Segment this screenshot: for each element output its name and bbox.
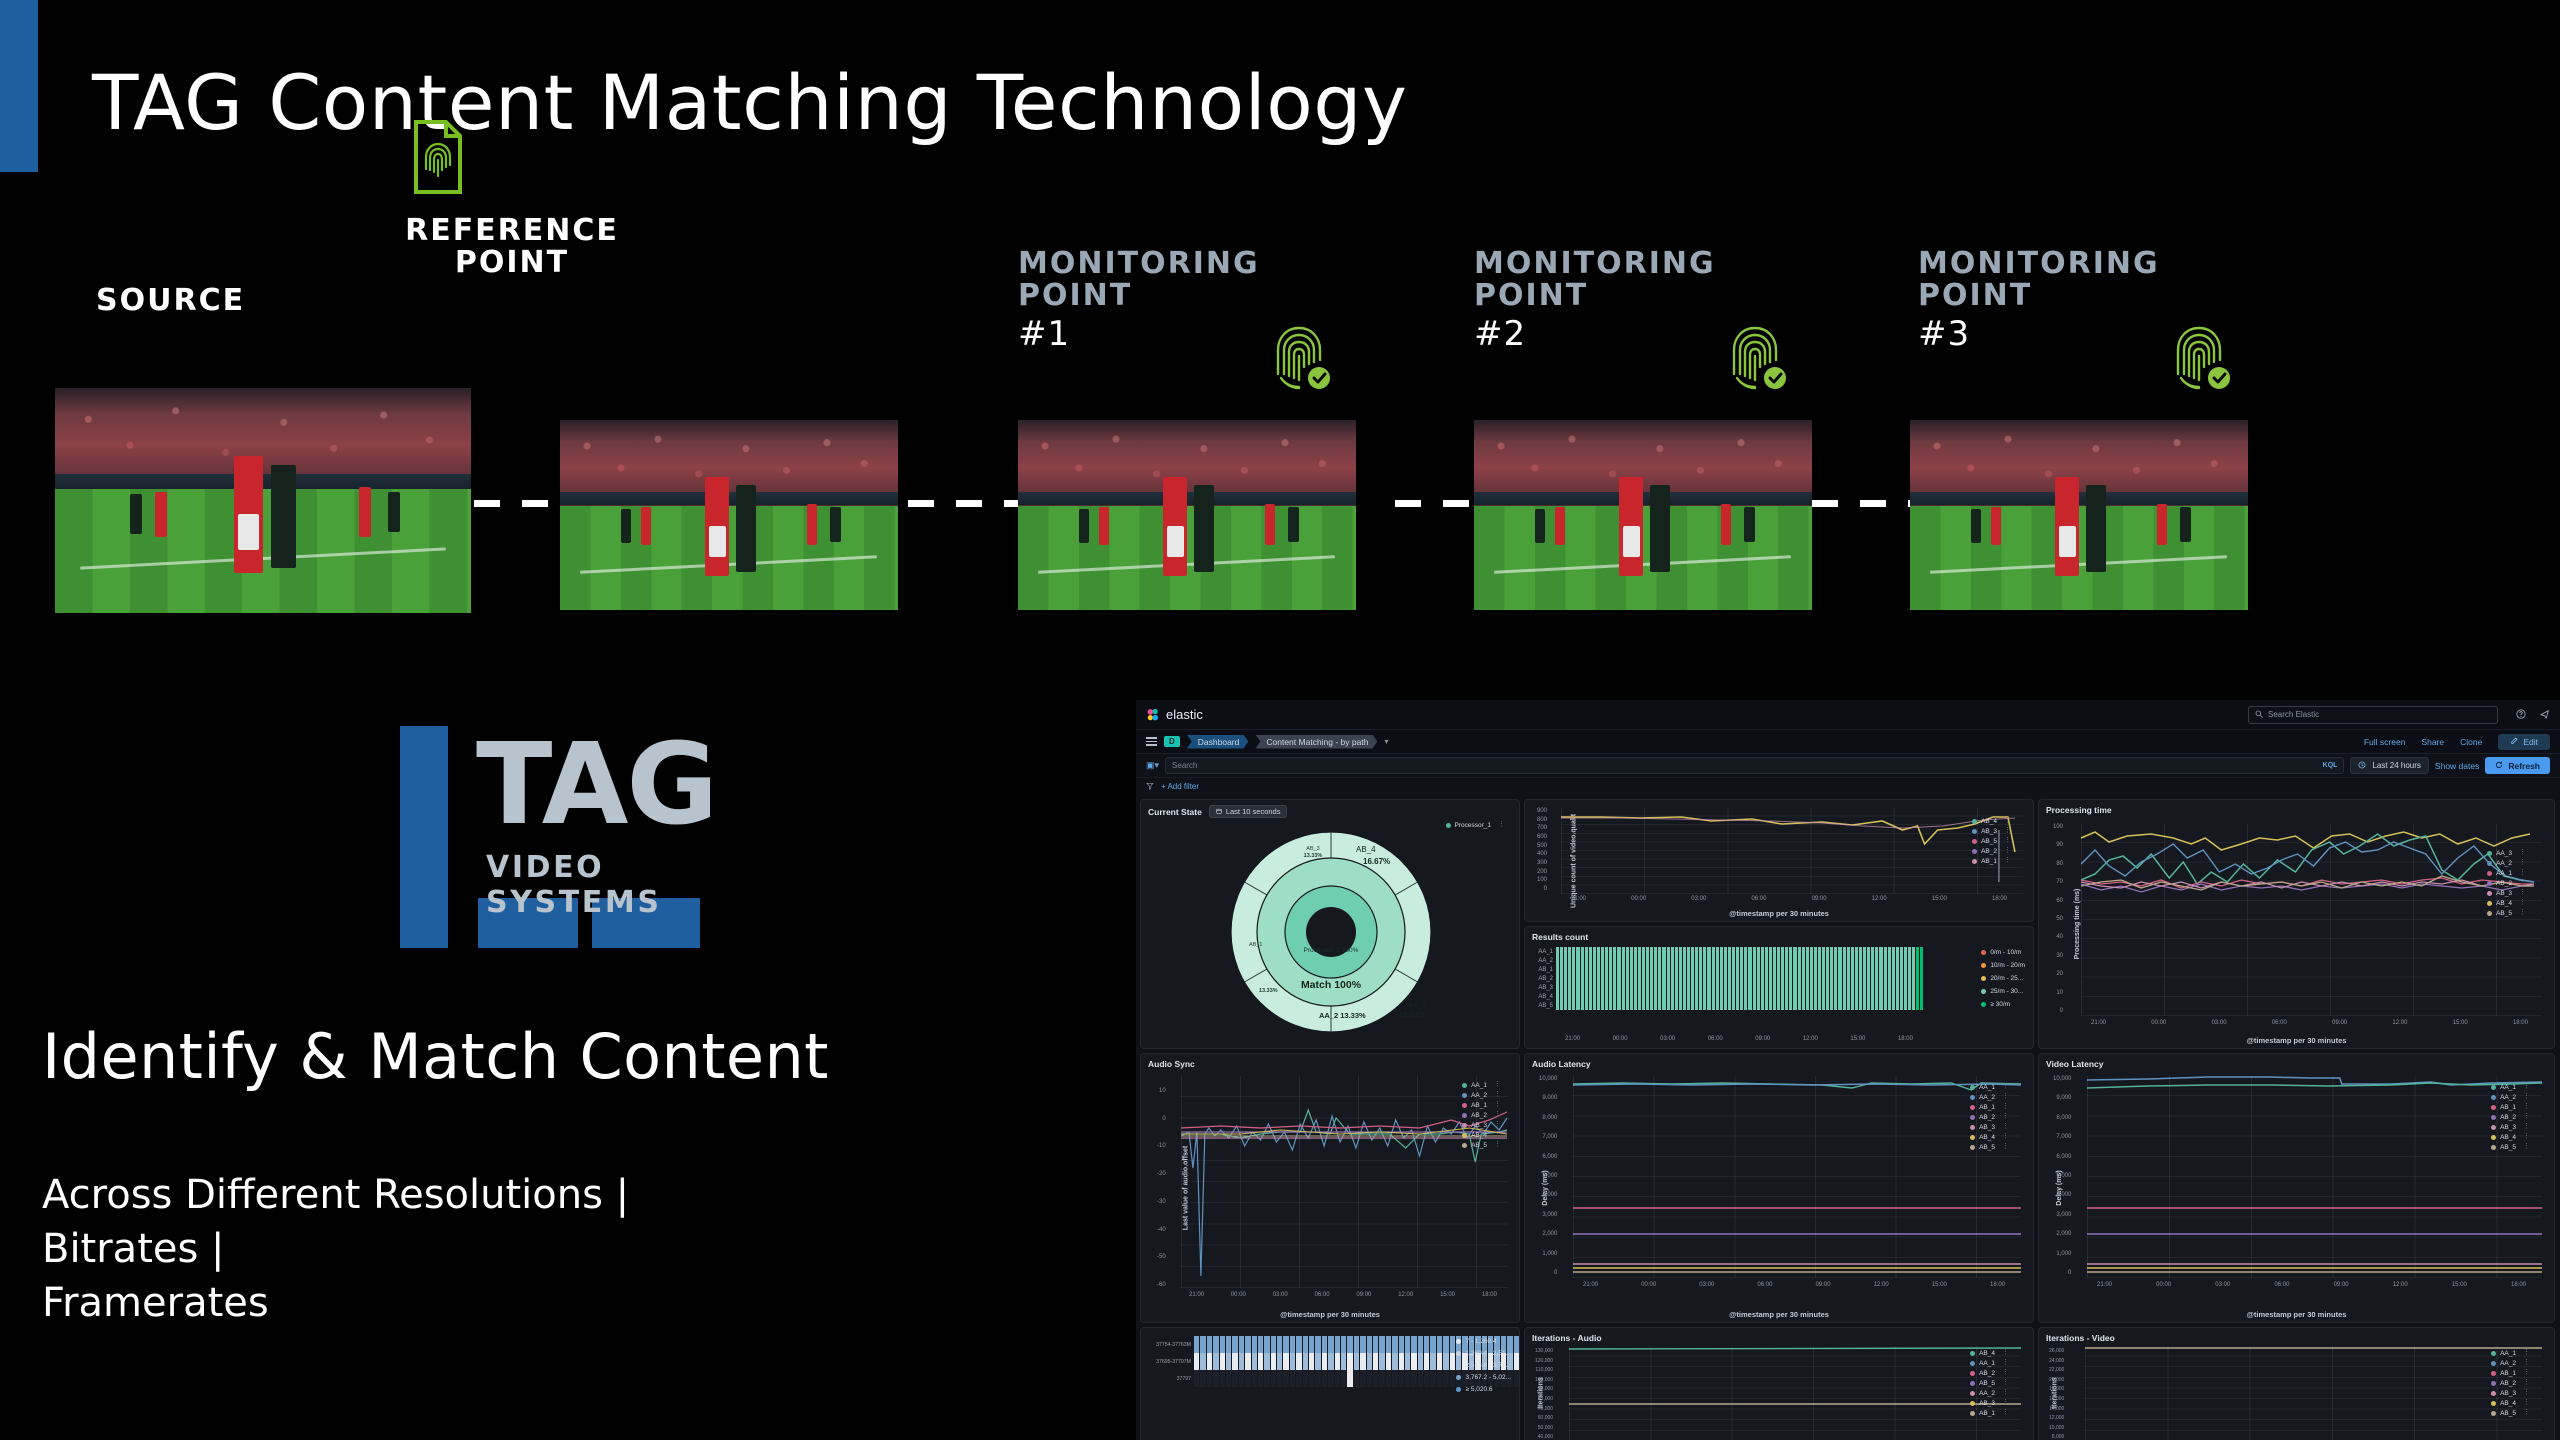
heatmap-cell[interactable] [1386,1336,1391,1353]
heatmap-cell[interactable] [1581,1001,1584,1010]
heatmap-cell[interactable] [1888,983,1891,992]
heatmap-cell[interactable] [1667,974,1670,983]
heatmap-cell[interactable] [1379,1336,1384,1353]
heatmap-cell[interactable] [1916,974,1919,983]
heatmap-cell[interactable] [1687,956,1690,965]
heatmap-cell[interactable] [1572,983,1575,992]
heatmap-cell[interactable] [1296,1370,1301,1387]
heatmap-cell[interactable] [1576,992,1579,1001]
feedback-icon[interactable] [2540,709,2550,721]
heatmap-cell[interactable] [1732,947,1735,956]
heatmap-cell[interactable] [1572,965,1575,974]
heatmap-cell[interactable] [1671,956,1674,965]
heatmap-cell[interactable] [1411,1336,1416,1353]
filter-icon[interactable] [1146,782,1154,792]
heatmap-cell[interactable] [1765,992,1768,1001]
heatmap-cell[interactable] [1769,983,1772,992]
heatmap-cell[interactable] [1597,947,1600,956]
heatmap-cell[interactable] [1626,947,1629,956]
heatmap-cell[interactable] [1777,983,1780,992]
heatmap-cell[interactable] [1798,992,1801,1001]
heatmap-cell[interactable] [1405,1370,1410,1387]
heatmap-cell[interactable] [1589,947,1592,956]
heatmap-cell[interactable] [1367,1353,1372,1370]
heatmap-cell[interactable] [1667,965,1670,974]
heatmap-cell[interactable] [1703,947,1706,956]
heatmap-cell[interactable] [1667,992,1670,1001]
panel-unique-count-video-quality[interactable]: Unique count of video.qualit 900800 7006… [1524,799,2034,922]
edit-button[interactable]: Edit [2498,734,2550,750]
heatmap-cell[interactable] [1568,956,1571,965]
heatmap-cell[interactable] [1740,974,1743,983]
heatmap-cell[interactable] [1847,992,1850,1001]
heatmap-cell[interactable] [1622,1001,1625,1010]
heatmap-cell[interactable] [1646,947,1649,956]
heatmap-cell[interactable] [1283,1336,1288,1353]
heatmap-cell[interactable] [1556,1001,1559,1010]
heatmap-cell[interactable] [1871,965,1874,974]
heatmap-cell[interactable] [1367,1336,1372,1353]
heatmap-cell[interactable] [1802,983,1805,992]
heatmap-cell[interactable] [1683,965,1686,974]
heatmap-cell[interactable] [1765,947,1768,956]
heatmap-cell[interactable] [1802,947,1805,956]
heatmap-cell[interactable] [1658,947,1661,956]
heatmap-cell[interactable] [1884,956,1887,965]
heatmap-cell[interactable] [1560,983,1563,992]
heatmap-cell[interactable] [1232,1336,1237,1353]
heatmap-cell[interactable] [1347,1370,1352,1387]
heatmap-cell[interactable] [1576,956,1579,965]
heatmap-cell[interactable] [1884,974,1887,983]
heatmap-cell[interactable] [1200,1353,1205,1370]
heatmap-cell[interactable] [1814,992,1817,1001]
heatmap-cell[interactable] [1290,1353,1295,1370]
heatmap-cell[interactable] [1908,965,1911,974]
heatmap-cell[interactable] [1601,965,1604,974]
heatmap-cell[interactable] [1703,965,1706,974]
heatmap-cell[interactable] [1707,965,1710,974]
heatmap-cell[interactable] [1851,1001,1854,1010]
heatmap-cell[interactable] [1904,956,1907,965]
heatmap-cell[interactable] [1683,947,1686,956]
heatmap-cell[interactable] [1843,956,1846,965]
heatmap-cell[interactable] [1283,1370,1288,1387]
heatmap-cell[interactable] [1789,956,1792,965]
heatmap-cell[interactable] [1826,992,1829,1001]
heatmap-cell[interactable] [1773,992,1776,1001]
heatmap-cell[interactable] [1834,947,1837,956]
heatmap-cell[interactable] [1818,1001,1821,1010]
clone-button[interactable]: Clone [2460,737,2482,747]
heatmap-cell[interactable] [1634,947,1637,956]
heatmap-cell[interactable] [1818,965,1821,974]
heatmap-cell[interactable] [1777,1001,1780,1010]
heatmap-cell[interactable] [1806,974,1809,983]
heatmap-cell[interactable] [1912,956,1915,965]
heatmap-cell[interactable] [1232,1370,1237,1387]
heatmap-cell[interactable] [1785,983,1788,992]
heatmap-cell[interactable] [1609,983,1612,992]
heatmap-cell[interactable] [1748,1001,1751,1010]
heatmap-cell[interactable] [1601,992,1604,1001]
heatmap-cell[interactable] [1703,974,1706,983]
heatmap-cell[interactable] [1239,1370,1244,1387]
heatmap-cell[interactable] [1859,983,1862,992]
heatmap-cell[interactable] [1851,983,1854,992]
heatmap-cell[interactable] [1667,956,1670,965]
heatmap-cell[interactable] [1671,983,1674,992]
heatmap-cell[interactable] [1581,974,1584,983]
heatmap-cell[interactable] [1691,983,1694,992]
help-icon[interactable] [2516,709,2526,721]
heatmap-cell[interactable] [1777,974,1780,983]
heatmap-cell[interactable] [1646,974,1649,983]
heatmap-cell[interactable] [1896,974,1899,983]
heatmap-cell[interactable] [1691,974,1694,983]
heatmap-cell[interactable] [1838,1001,1841,1010]
heatmap-cell[interactable] [1838,992,1841,1001]
heatmap-cell[interactable] [1892,956,1895,965]
heatmap-cell[interactable] [1597,1001,1600,1010]
heatmap-cell[interactable] [1847,1001,1850,1010]
heatmap-cell[interactable] [1296,1336,1301,1353]
heatmap-cell[interactable] [1724,965,1727,974]
heatmap-cell[interactable] [1556,983,1559,992]
heatmap-cell[interactable] [1875,965,1878,974]
heatmap-cell[interactable] [1900,947,1903,956]
heatmap-cell[interactable] [1642,965,1645,974]
heatmap-cell[interactable] [1830,992,1833,1001]
heatmap-cell[interactable] [1871,956,1874,965]
heatmap-cell[interactable] [1634,956,1637,965]
heatmap-cell[interactable] [1207,1370,1212,1387]
heatmap-cell[interactable] [1757,992,1760,1001]
heatmap-cell[interactable] [1736,974,1739,983]
heatmap-cell[interactable] [1328,1353,1333,1370]
heatmap-cell[interactable] [1884,983,1887,992]
heatmap-cell[interactable] [1654,947,1657,956]
heatmap-cell[interactable] [1347,1353,1352,1370]
heatmap-cell[interactable] [1732,992,1735,1001]
heatmap-cell[interactable] [1309,1353,1314,1370]
heatmap-cell[interactable] [1916,1001,1919,1010]
heatmap-cell[interactable] [1834,956,1837,965]
heatmap-cell[interactable] [1748,992,1751,1001]
elastic-logo[interactable]: elastic [1146,707,1203,722]
heatmap-cell[interactable] [1753,965,1756,974]
heatmap-cell[interactable] [1667,1001,1670,1010]
heatmap-cell[interactable] [1687,1001,1690,1010]
heatmap-cell[interactable] [1613,947,1616,956]
heatmap-cell[interactable] [1712,956,1715,965]
heatmap-cell[interactable] [1789,947,1792,956]
heatmap-cell[interactable] [1773,1001,1776,1010]
heatmap-cell[interactable] [1617,956,1620,965]
heatmap-cell[interactable] [1679,956,1682,965]
heatmap-cell[interactable] [1258,1370,1263,1387]
heatmap-cell[interactable] [1712,992,1715,1001]
heatmap-cell[interactable] [1769,965,1772,974]
heatmap-cell[interactable] [1226,1370,1231,1387]
heatmap-cell[interactable] [1424,1353,1429,1370]
heatmap-cell[interactable] [1904,965,1907,974]
heatmap-cell[interactable] [1810,947,1813,956]
heatmap-cell[interactable] [1667,947,1670,956]
heatmap-cell[interactable] [1271,1370,1276,1387]
heatmap-cell[interactable] [1200,1336,1205,1353]
heatmap-cell[interactable] [1646,965,1649,974]
heatmap-cell[interactable] [1867,965,1870,974]
heatmap-cell[interactable] [1806,947,1809,956]
full-screen-button[interactable]: Full screen [2364,737,2406,747]
heatmap-cell[interactable] [1912,974,1915,983]
heatmap-cell[interactable] [1830,947,1833,956]
heatmap-cell[interactable] [1720,956,1723,965]
heatmap-cell[interactable] [1818,974,1821,983]
heatmap-cell[interactable] [1675,1001,1678,1010]
heatmap-cell[interactable] [1814,983,1817,992]
heatmap-cell[interactable] [1264,1336,1269,1353]
heatmap-cell[interactable] [1867,947,1870,956]
heatmap-cell[interactable] [1290,1336,1295,1353]
heatmap-cell[interactable] [1430,1370,1435,1387]
heatmap-cell[interactable] [1879,983,1882,992]
heatmap-cell[interactable] [1912,1001,1915,1010]
heatmap-cell[interactable] [1658,965,1661,974]
heatmap-cell[interactable] [1855,983,1858,992]
heatmap-cell[interactable] [1716,965,1719,974]
heatmap-cell[interactable] [1328,1370,1333,1387]
heatmap-cell[interactable] [1589,1001,1592,1010]
heatmap-cell[interactable] [1593,974,1596,983]
heatmap-cell[interactable] [1888,965,1891,974]
heatmap-cell[interactable] [1642,1001,1645,1010]
heatmap-cell[interactable] [1798,965,1801,974]
heatmap-cell[interactable] [1765,965,1768,974]
heatmap-cell[interactable] [1687,974,1690,983]
heatmap-cell[interactable] [1605,965,1608,974]
heatmap-cell[interactable] [1777,956,1780,965]
heatmap-cell[interactable] [1399,1370,1404,1387]
heatmap-cell[interactable] [1207,1353,1212,1370]
heatmap-cell[interactable] [1912,983,1915,992]
heatmap-cell[interactable] [1354,1370,1359,1387]
heatmap-cell[interactable] [1617,1001,1620,1010]
heatmap-cell[interactable] [1589,983,1592,992]
heatmap-cell[interactable] [1724,992,1727,1001]
panel-iterations-video[interactable]: Iterations - Video Iterations 26,00024,0… [2038,1327,2555,1440]
heatmap-cell[interactable] [1581,956,1584,965]
heatmap-cell[interactable] [1315,1370,1320,1387]
heatmap-cell[interactable] [1424,1370,1429,1387]
heatmap-cell[interactable] [1855,965,1858,974]
heatmap-cell[interactable] [1564,1001,1567,1010]
heatmap-cell[interactable] [1593,1001,1596,1010]
panel-results-count[interactable]: Results count AA_1 AA_2 AB_1 AB_2 AB_3 A… [1524,926,2034,1049]
panel-processing-time[interactable]: Processing time Processing time (ms) 100… [2038,799,2555,1049]
heatmap-cell[interactable] [1220,1336,1225,1353]
heatmap-cell[interactable] [1671,974,1674,983]
heatmap-cell[interactable] [1785,947,1788,956]
heatmap-cell[interactable] [1622,956,1625,965]
heatmap-cell[interactable] [1589,956,1592,965]
heatmap-cell[interactable] [1679,974,1682,983]
heatmap-cell[interactable] [1855,1001,1858,1010]
heatmap-cell[interactable] [1904,1001,1907,1010]
heatmap-cell[interactable] [1851,947,1854,956]
heatmap-cell[interactable] [1908,956,1911,965]
heatmap-cell[interactable] [1871,947,1874,956]
heatmap-cell[interactable] [1662,965,1665,974]
heatmap-cell[interactable] [1806,983,1809,992]
heatmap-cell[interactable] [1744,1001,1747,1010]
heatmap-cell[interactable] [1622,965,1625,974]
heatmap-cell[interactable] [1744,983,1747,992]
panel-iterations-audio[interactable]: Iterations - Audio Iterations 130,000120… [1524,1327,2034,1440]
heatmap-cell[interactable] [1810,983,1813,992]
heatmap-cell[interactable] [1781,947,1784,956]
heatmap-cell[interactable] [1855,974,1858,983]
search-input[interactable]: Search Elastic [2248,706,2498,724]
heatmap-cell[interactable] [1650,956,1653,965]
heatmap-cell[interactable] [1581,992,1584,1001]
heatmap-cell[interactable] [1601,983,1604,992]
heatmap-cell[interactable] [1322,1336,1327,1353]
heatmap-cell[interactable] [1863,947,1866,956]
heatmap-cell[interactable] [1761,965,1764,974]
heatmap-cell[interactable] [1630,992,1633,1001]
heatmap-cell[interactable] [1818,947,1821,956]
menu-icon[interactable] [1146,737,1157,746]
heatmap-cell[interactable] [1843,965,1846,974]
heatmap-cell[interactable] [1379,1370,1384,1387]
heatmap-cell[interactable] [1560,947,1563,956]
heatmap-cell[interactable] [1271,1353,1276,1370]
heatmap-cell[interactable] [1683,1001,1686,1010]
heatmap-cell[interactable] [1392,1336,1397,1353]
heatmap-cell[interactable] [1732,974,1735,983]
heatmap-cell[interactable] [1695,947,1698,956]
heatmap-cell[interactable] [1556,965,1559,974]
heatmap-cell[interactable] [1405,1336,1410,1353]
heatmap-cell[interactable] [1642,956,1645,965]
breadcrumb-content-matching[interactable]: Content Matching - by path [1255,735,1377,749]
heatmap-cell[interactable] [1605,974,1608,983]
heatmap-cell[interactable] [1309,1336,1314,1353]
heatmap-cell[interactable] [1194,1370,1199,1387]
heatmap-cell[interactable] [1411,1370,1416,1387]
heatmap-cell[interactable] [1912,992,1915,1001]
heatmap-cell[interactable] [1720,983,1723,992]
heatmap-cell[interactable] [1781,965,1784,974]
heatmap-cell[interactable] [1691,965,1694,974]
heatmap-cell[interactable] [1679,965,1682,974]
heatmap-cell[interactable] [1556,947,1559,956]
heatmap-cell[interactable] [1822,983,1825,992]
heatmap-cell[interactable] [1662,1001,1665,1010]
heatmap-cell[interactable] [1568,974,1571,983]
heatmap-cell[interactable] [1814,947,1817,956]
heatmap-cell[interactable] [1418,1336,1423,1353]
heatmap-cell[interactable] [1728,965,1731,974]
heatmap-cell[interactable] [1675,974,1678,983]
heatmap-cell[interactable] [1373,1370,1378,1387]
heatmap-cell[interactable] [1896,965,1899,974]
heatmap-cell[interactable] [1556,974,1559,983]
heatmap-cell[interactable] [1634,983,1637,992]
dataview-icon[interactable]: ▣▾ [1146,760,1159,771]
heatmap-cell[interactable] [1617,965,1620,974]
heatmap-cell[interactable] [1707,974,1710,983]
heatmap-cell[interactable] [1802,974,1805,983]
heatmap-cell[interactable] [1514,1370,1519,1387]
heatmap-cell[interactable] [1662,983,1665,992]
heatmap-cell[interactable] [1720,947,1723,956]
heatmap-cell[interactable] [1341,1353,1346,1370]
heatmap-cell[interactable] [1900,1001,1903,1010]
heatmap-cell[interactable] [1724,947,1727,956]
heatmap-cell[interactable] [1740,983,1743,992]
heatmap-cell[interactable] [1699,965,1702,974]
heatmap-cell[interactable] [1245,1353,1250,1370]
heatmap-cell[interactable] [1430,1353,1435,1370]
heatmap-cell[interactable] [1450,1336,1455,1353]
heatmap-cell[interactable] [1303,1353,1308,1370]
heatmap-cell[interactable] [1765,956,1768,965]
heatmap-cell[interactable] [1658,956,1661,965]
heatmap-cell[interactable] [1609,965,1612,974]
heatmap-cell[interactable] [1315,1336,1320,1353]
heatmap-cell[interactable] [1386,1353,1391,1370]
heatmap-cell[interactable] [1626,983,1629,992]
heatmap-cell[interactable] [1888,956,1891,965]
heatmap-cell[interactable] [1691,947,1694,956]
heatmap-cell[interactable] [1736,983,1739,992]
heatmap-cell[interactable] [1630,974,1633,983]
heatmap-cell[interactable] [1720,1001,1723,1010]
heatmap-cell[interactable] [1753,992,1756,1001]
heatmap-cell[interactable] [1322,1370,1327,1387]
query-input[interactable]: Search KQL [1165,757,2344,774]
heatmap-cell[interactable] [1679,947,1682,956]
heatmap-cell[interactable] [1851,965,1854,974]
heatmap-cell[interactable] [1847,947,1850,956]
heatmap-cell[interactable] [1740,992,1743,1001]
heatmap-cell[interactable] [1859,974,1862,983]
heatmap-cell[interactable] [1626,1001,1629,1010]
heatmap-cell[interactable] [1904,974,1907,983]
heatmap-cell[interactable] [1597,983,1600,992]
heatmap-cell[interactable] [1258,1353,1263,1370]
heatmap-cell[interactable] [1892,965,1895,974]
heatmap-cell[interactable] [1437,1353,1442,1370]
heatmap-cell[interactable] [1309,1370,1314,1387]
heatmap-cell[interactable] [1896,1001,1899,1010]
heatmap-cell[interactable] [1514,1353,1519,1370]
heatmap-cell[interactable] [1843,1001,1846,1010]
heatmap-cell[interactable] [1695,974,1698,983]
heatmap-cell[interactable] [1834,1001,1837,1010]
heatmap-cell[interactable] [1814,974,1817,983]
heatmap-cell[interactable] [1798,983,1801,992]
heatmap-cell[interactable] [1728,983,1731,992]
heatmap-cell[interactable] [1843,947,1846,956]
heatmap-cell[interactable] [1572,947,1575,956]
heatmap-cell[interactable] [1732,1001,1735,1010]
heatmap-cell[interactable] [1589,974,1592,983]
heatmap-cell[interactable] [1753,947,1756,956]
